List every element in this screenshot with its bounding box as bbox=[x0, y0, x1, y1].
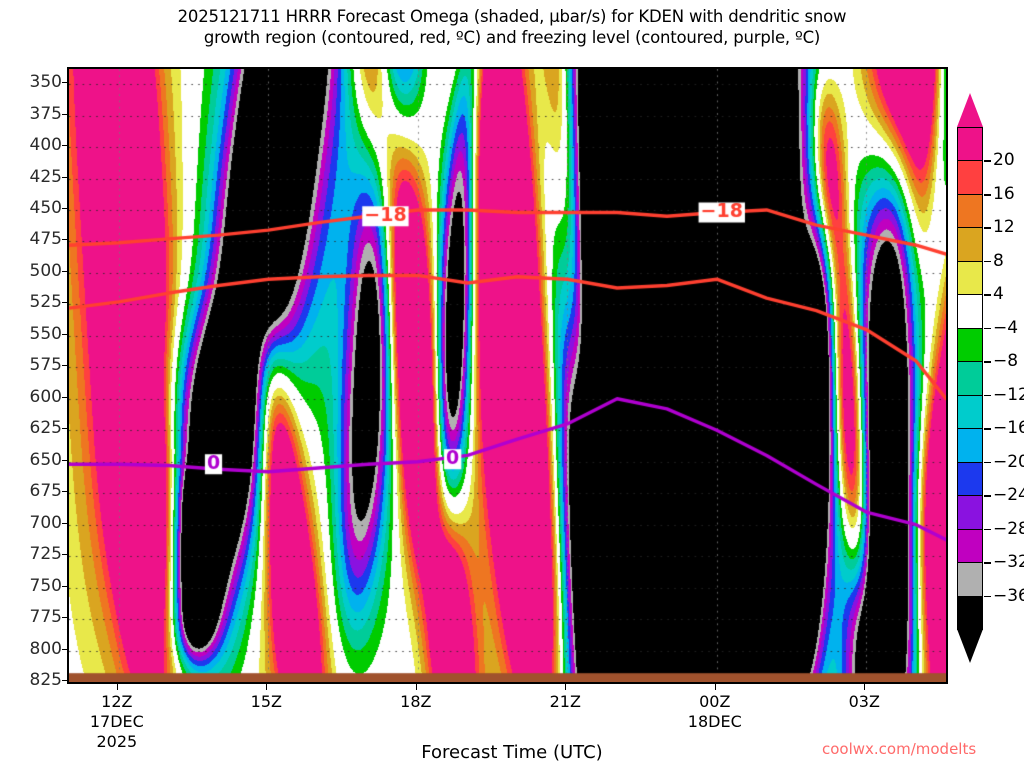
x-axis-tick bbox=[416, 684, 417, 690]
colorbar-tick-label: 4 bbox=[993, 284, 1004, 304]
y-axis-tick bbox=[62, 586, 67, 587]
y-axis-tick bbox=[62, 649, 67, 650]
colorbar-segment bbox=[957, 361, 983, 396]
colorbar-segment bbox=[957, 127, 983, 162]
x-axis-tick-label: 03Z bbox=[849, 692, 880, 711]
colorbar-tick bbox=[984, 562, 991, 564]
y-axis-tick-label: 500 bbox=[30, 261, 62, 281]
colorbar-segment bbox=[957, 562, 983, 597]
colorbar-segment bbox=[957, 495, 983, 530]
y-axis-tick bbox=[62, 271, 67, 272]
colorbar-segment bbox=[957, 194, 983, 229]
y-axis-tick bbox=[62, 365, 67, 366]
y-axis-tick bbox=[62, 491, 67, 492]
colorbar-tick bbox=[984, 495, 991, 497]
y-axis-tick-label: 825 bbox=[30, 670, 62, 690]
colorbar-segment bbox=[957, 428, 983, 463]
y-axis-tick bbox=[62, 82, 67, 83]
y-axis-tick-label: 400 bbox=[30, 135, 62, 155]
y-axis-tick-label: 375 bbox=[30, 104, 62, 124]
x-axis-date-label: 18DEC bbox=[688, 712, 742, 731]
x-axis-date-label: 17DEC bbox=[90, 712, 144, 731]
colorbar-segment bbox=[957, 227, 983, 262]
colorbar-tick-label: −20 bbox=[993, 452, 1024, 472]
y-axis-tick-label: 750 bbox=[30, 576, 62, 596]
x-axis-tick-label: 21Z bbox=[550, 692, 581, 711]
colorbar: 20161284−4−8−12−16−20−24−28−32−36 bbox=[957, 93, 983, 663]
colorbar-segment bbox=[957, 261, 983, 296]
colorbar-segment bbox=[957, 462, 983, 497]
y-axis-tick-label: 775 bbox=[30, 607, 62, 627]
y-axis-tick-label: 350 bbox=[30, 72, 62, 92]
y-axis-tick bbox=[62, 239, 67, 240]
y-axis-tick-label: 650 bbox=[30, 450, 62, 470]
x-axis-tick-label: 15Z bbox=[251, 692, 282, 711]
x-axis-tick bbox=[565, 684, 566, 690]
colorbar-tick-label: −16 bbox=[993, 418, 1024, 438]
y-axis-tick-label: 700 bbox=[30, 513, 62, 533]
y-axis-tick bbox=[62, 177, 67, 178]
chart-plot-area bbox=[67, 67, 948, 684]
colorbar-tick-label: −4 bbox=[993, 318, 1018, 338]
y-axis-tick-label: 575 bbox=[30, 355, 62, 375]
colorbar-tick bbox=[984, 361, 991, 363]
page-title: 2025121711 HRRR Forecast Omega (shaded, … bbox=[0, 6, 1024, 48]
colorbar-tick-label: −24 bbox=[993, 485, 1024, 505]
colorbar-tick bbox=[984, 428, 991, 430]
x-axis-tick-label: 18Z bbox=[400, 692, 431, 711]
colorbar-tick-label: 8 bbox=[993, 251, 1004, 271]
colorbar-tick-label: −8 bbox=[993, 351, 1018, 371]
y-axis-tick-label: 525 bbox=[30, 292, 62, 312]
colorbar-tick bbox=[984, 462, 991, 464]
colorbar-tick-label: 20 bbox=[993, 150, 1015, 170]
colorbar-tick bbox=[984, 194, 991, 196]
y-axis-tick bbox=[62, 334, 67, 335]
colorbar-segment bbox=[957, 294, 983, 329]
omega-shading-canvas bbox=[69, 69, 946, 682]
x-axis-tick bbox=[117, 684, 118, 690]
colorbar-tick-label: −28 bbox=[993, 519, 1024, 539]
colorbar-tick-label: −12 bbox=[993, 385, 1024, 405]
colorbar-tick bbox=[984, 395, 991, 397]
y-axis-tick-label: 625 bbox=[30, 418, 62, 438]
y-axis-tick-label: 725 bbox=[30, 544, 62, 564]
y-axis-tick-label: 425 bbox=[30, 167, 62, 187]
colorbar-segment bbox=[957, 328, 983, 363]
colorbar-tick bbox=[984, 294, 991, 296]
y-axis-tick bbox=[62, 114, 67, 115]
colorbar-segment bbox=[957, 529, 983, 564]
colorbar-tick-label: −36 bbox=[993, 586, 1024, 606]
credit-watermark: coolwx.com/modelts bbox=[822, 740, 976, 758]
colorbar-tick bbox=[984, 227, 991, 229]
x-axis-tick-label: 00Z bbox=[699, 692, 730, 711]
colorbar-tick bbox=[984, 596, 991, 598]
y-axis-tick bbox=[62, 397, 67, 398]
y-axis-tick bbox=[62, 617, 67, 618]
colorbar-tick bbox=[984, 261, 991, 263]
colorbar-over-arrow bbox=[957, 93, 983, 127]
title-line-1: 2025121711 HRRR Forecast Omega (shaded, … bbox=[178, 7, 847, 26]
y-axis: 3503754004254504755005255505756006256506… bbox=[0, 67, 62, 684]
colorbar-tick-label: 16 bbox=[993, 184, 1015, 204]
colorbar-tick bbox=[984, 529, 991, 531]
title-line-2: growth region (contoured, red, ºC) and f… bbox=[0, 27, 1024, 48]
colorbar-segment bbox=[957, 160, 983, 195]
y-axis-tick-label: 800 bbox=[30, 639, 62, 659]
y-axis-tick bbox=[62, 523, 67, 524]
y-axis-tick-label: 550 bbox=[30, 324, 62, 344]
y-axis-tick bbox=[62, 680, 67, 681]
colorbar-segment bbox=[957, 395, 983, 430]
colorbar-under-arrow bbox=[957, 629, 983, 663]
x-axis-tick bbox=[864, 684, 865, 690]
x-axis-tick bbox=[266, 684, 267, 690]
colorbar-tick-label: −32 bbox=[993, 552, 1024, 572]
y-axis-tick bbox=[62, 428, 67, 429]
y-axis-tick bbox=[62, 554, 67, 555]
colorbar-segment bbox=[957, 596, 983, 631]
y-axis-tick-label: 475 bbox=[30, 229, 62, 249]
y-axis-tick bbox=[62, 145, 67, 146]
y-axis-tick bbox=[62, 302, 67, 303]
colorbar-tick-label: 12 bbox=[993, 217, 1015, 237]
y-axis-tick bbox=[62, 460, 67, 461]
colorbar-tick bbox=[984, 328, 991, 330]
y-axis-tick-label: 450 bbox=[30, 198, 62, 218]
y-axis-tick bbox=[62, 208, 67, 209]
x-axis-tick-label: 12Z bbox=[101, 692, 132, 711]
colorbar-tick bbox=[984, 160, 991, 162]
x-axis-tick bbox=[715, 684, 716, 690]
y-axis-tick-label: 675 bbox=[30, 481, 62, 501]
y-axis-tick-label: 600 bbox=[30, 387, 62, 407]
